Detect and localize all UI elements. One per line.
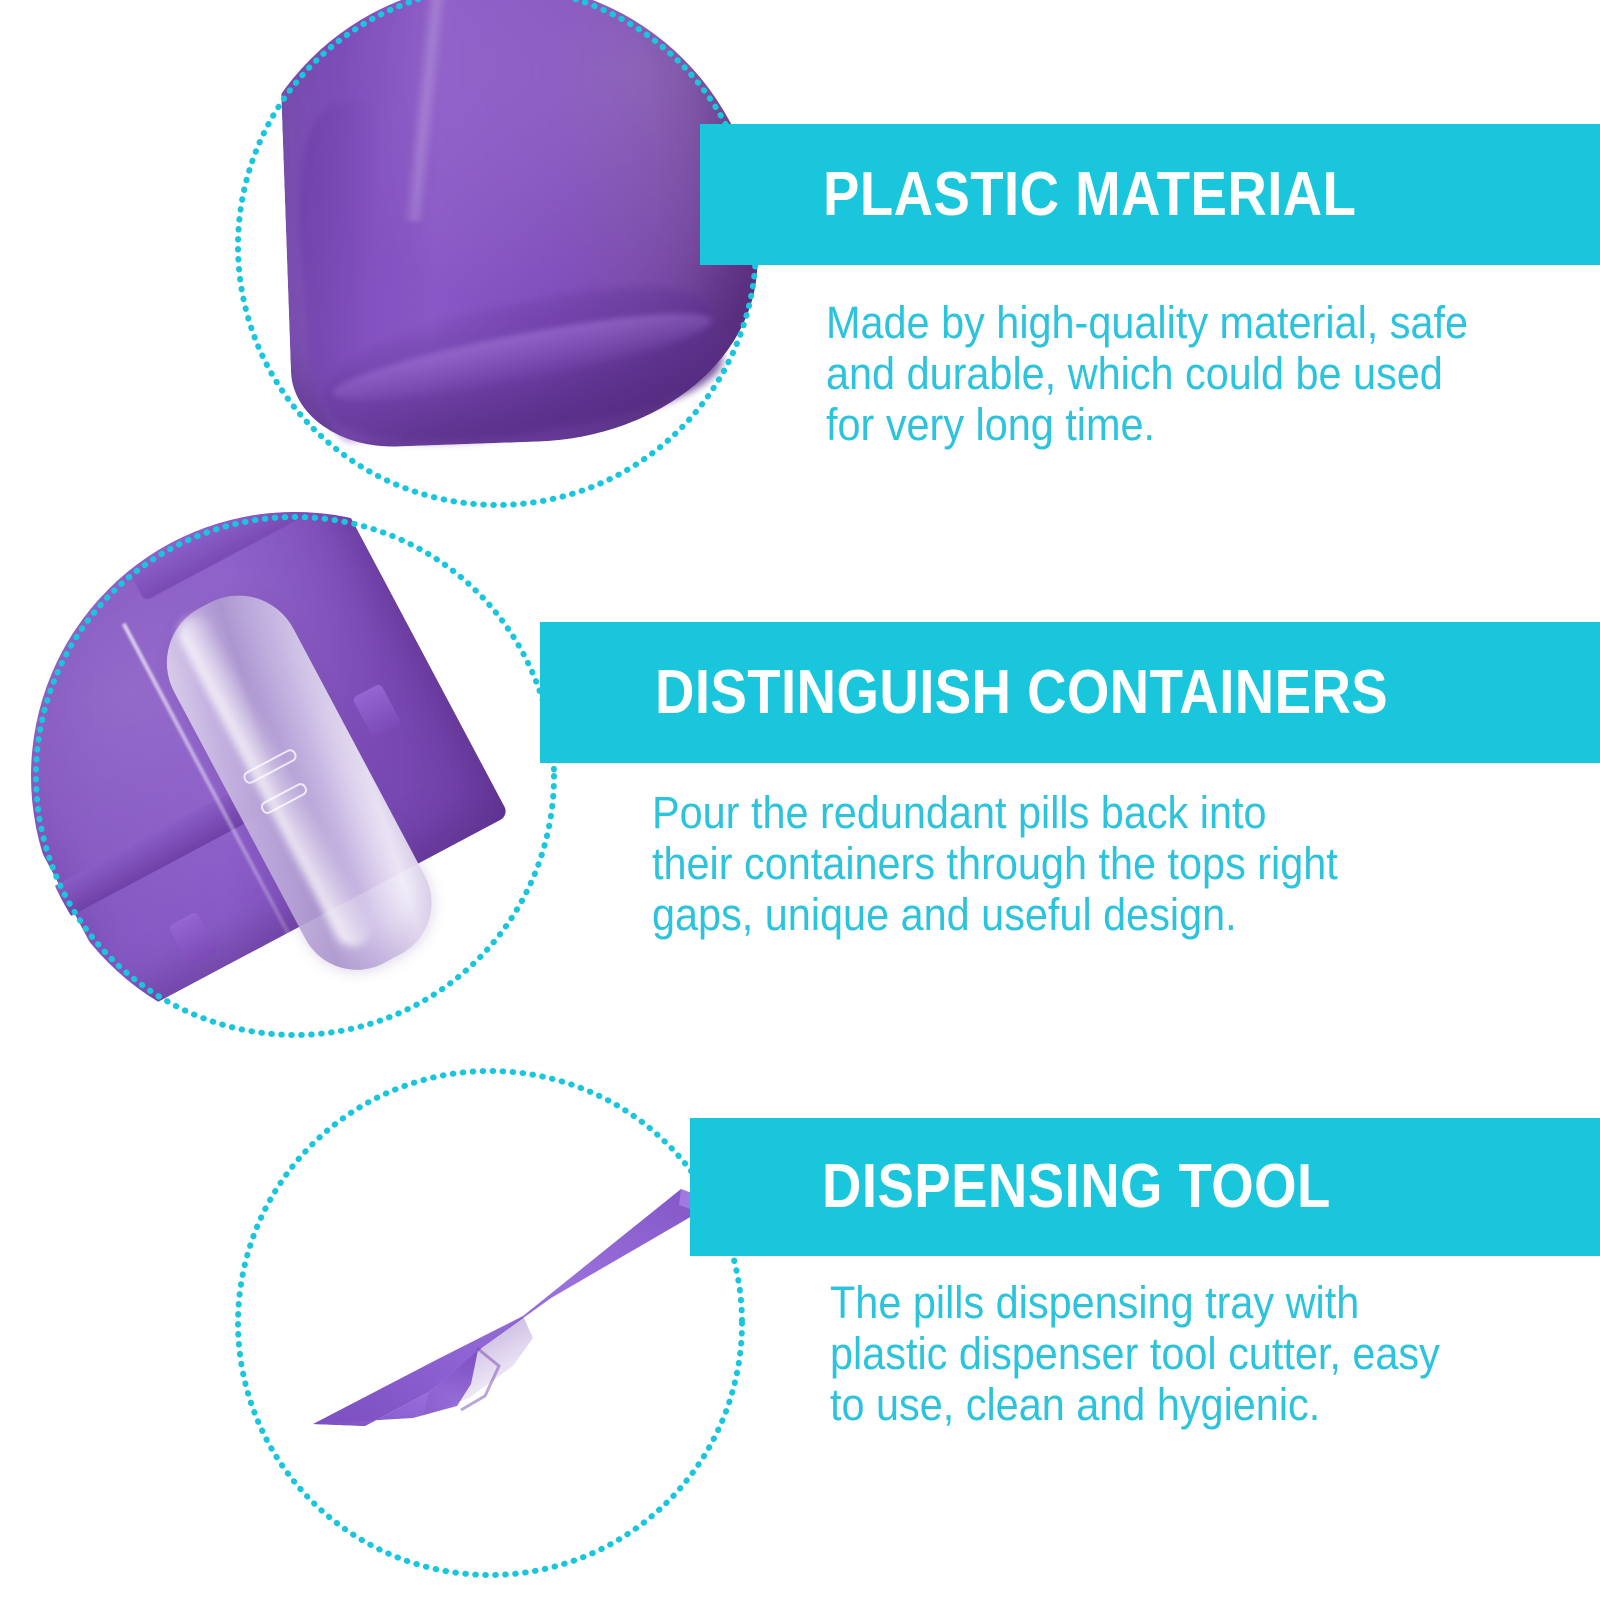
feature-banner-distinguish-containers: DISTINGUISH CONTAINERS: [540, 622, 1600, 763]
feature-title-2: DISTINGUISH CONTAINERS: [655, 662, 1388, 724]
pill-tray-assembly: [31, 512, 559, 1040]
feature-description-2: Pour the redundant pills back into their…: [652, 787, 1416, 940]
photo-clip-2: [31, 512, 559, 1040]
feature-description-1: Made by high-quality material, safe and …: [826, 297, 1525, 450]
tool-blade-upper: [313, 1189, 702, 1426]
product-photo-circle-plastic-material: [233, 0, 761, 510]
feature-title-3: DISPENSING TOOL: [822, 1156, 1331, 1218]
dispenser-tool-illustration: [233, 1066, 747, 1580]
feature-title-1: PLASTIC MATERIAL: [823, 164, 1356, 226]
photo-clip-3: [233, 1066, 747, 1580]
feature-banner-plastic-material: PLASTIC MATERIAL: [700, 124, 1600, 265]
product-photo-circle-dispensing-tool: [233, 1066, 747, 1580]
feature-description-3: The pills dispensing tray with plastic d…: [830, 1277, 1529, 1430]
feature-banner-dispensing-tool: DISPENSING TOOL: [690, 1118, 1600, 1256]
product-photo-circle-distinguish-containers: [31, 512, 559, 1040]
infographic-canvas: PLASTIC MATERIAL Made by high-quality ma…: [0, 0, 1600, 1600]
photo-clip-1: [233, 0, 761, 510]
